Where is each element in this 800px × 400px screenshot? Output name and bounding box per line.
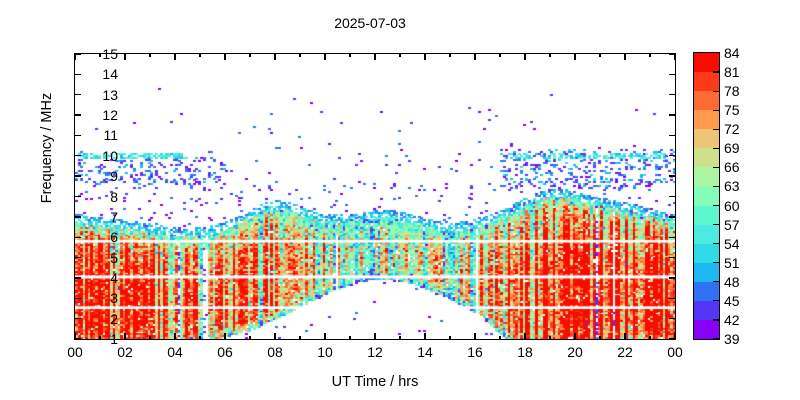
x-tick-minor-mark [599,336,600,340]
x-tick-label: 18 [500,344,550,360]
x-tick-mark [274,333,275,340]
colorbar-band [694,167,719,186]
colorbar-tick-label: 45 [724,293,740,309]
x-tick-label: 00 [650,344,700,360]
x-tick-mark-top [124,53,125,60]
x-tick-mark-top [224,53,225,60]
x-tick-mark [674,333,675,340]
x-tick-mark [424,333,425,340]
x-tick-minor-mark-top [249,53,250,57]
colorbar-tick-label: 75 [724,102,740,118]
y-tick-mark [74,237,81,238]
colorbar-band [694,53,719,72]
y-tick-label: 3 [78,290,118,306]
colorbar-tick-label: 72 [724,121,740,137]
x-tick-minor-mark-top [599,53,600,57]
x-tick-minor-mark-top [99,53,100,57]
y-tick-mark [74,155,81,156]
plot-area[interactable] [74,53,676,340]
colorbar-tick-mark [713,262,720,263]
colorbar-tick-label: 66 [724,159,740,175]
colorbar-tick-label: 81 [724,64,740,80]
colorbar-band [694,320,719,339]
x-tick-mark [624,333,625,340]
x-tick-label: 08 [250,344,300,360]
colorbar-band [694,186,719,205]
x-tick-minor-mark [499,336,500,340]
colorbar-band [694,263,719,282]
x-tick-label: 12 [350,344,400,360]
colorbar-tick-mark [713,129,720,130]
x-tick-minor-mark-top [349,53,350,57]
x-tick-minor-mark-top [649,53,650,57]
y-tick-label: 14 [78,66,118,82]
y-tick-mark-right [669,318,676,319]
colorbar-band [694,129,719,148]
y-tick-mark [74,196,81,197]
page-title: 2025-07-03 [0,15,740,31]
y-tick-mark-right [669,155,676,156]
y-tick-mark [74,277,81,278]
colorbar-tick-mark [713,205,720,206]
y-tick-mark-right [669,277,676,278]
y-tick-mark-right [669,135,676,136]
x-tick-minor-mark [349,336,350,340]
colorbar-tick-label: 39 [724,331,740,347]
y-tick-mark-right [669,175,676,176]
y-tick-mark [74,318,81,319]
x-tick-mark-top [474,53,475,60]
colorbar-tick-label: 48 [724,274,740,290]
colorbar-tick-mark [713,338,720,339]
y-tick-mark-right [669,114,676,115]
colorbar-band [694,282,719,301]
y-tick-label: 7 [78,209,118,225]
x-tick-minor-mark [199,336,200,340]
colorbar [693,52,720,340]
colorbar-band [694,72,719,91]
colorbar-band [694,206,719,225]
x-tick-label: 00 [50,344,100,360]
x-tick-minor-mark [249,336,250,340]
x-tick-minor-mark [99,336,100,340]
colorbar-band [694,301,719,320]
colorbar-band [694,244,719,263]
x-tick-mark [124,333,125,340]
y-tick-label: 6 [78,229,118,245]
x-tick-mark [374,333,375,340]
y-tick-label: 2 [78,311,118,327]
colorbar-tick-mark [713,300,720,301]
y-tick-label: 13 [78,87,118,103]
y-tick-label: 4 [78,270,118,286]
colorbar-tick-mark [713,243,720,244]
y-tick-mark [74,216,81,217]
colorbar-tick-label: 63 [724,178,740,194]
x-tick-label: 04 [150,344,200,360]
colorbar-tick-mark [713,148,720,149]
x-tick-label: 14 [400,344,450,360]
x-tick-minor-mark-top [449,53,450,57]
y-tick-label: 8 [78,189,118,205]
x-tick-label: 06 [200,344,250,360]
y-tick-mark-right [669,298,676,299]
y-tick-label: 11 [78,127,118,143]
colorbar-tick-mark [713,281,720,282]
y-tick-label: 12 [78,107,118,123]
x-tick-minor-mark-top [399,53,400,57]
spectrogram-canvas[interactable] [75,54,675,339]
x-tick-label: 22 [600,344,650,360]
x-tick-mark [224,333,225,340]
y-tick-label: 10 [78,148,118,164]
y-tick-mark-right [669,257,676,258]
x-tick-minor-mark-top [499,53,500,57]
x-tick-mark-top [674,53,675,60]
y-tick-mark-right [669,196,676,197]
y-tick-mark [74,257,81,258]
x-tick-minor-mark [299,336,300,340]
x-tick-label: 20 [550,344,600,360]
y-tick-mark [74,175,81,176]
colorbar-tick-mark [713,186,720,187]
x-tick-label: 02 [100,344,150,360]
x-tick-mark [574,333,575,340]
colorbar-band [694,91,719,110]
y-tick-mark-right [669,237,676,238]
x-tick-label: 10 [300,344,350,360]
y-tick-mark [74,298,81,299]
x-tick-mark [474,333,475,340]
x-axis-label: UT Time / hrs [74,374,676,390]
x-tick-minor-mark [549,336,550,340]
colorbar-tick-label: 57 [724,217,740,233]
colorbar-tick-mark [713,319,720,320]
y-tick-mark [74,94,81,95]
colorbar-tick-mark [713,110,720,111]
colorbar-tick-mark [713,167,720,168]
x-tick-minor-mark-top [199,53,200,57]
colorbar-tick-label: 54 [724,236,740,252]
colorbar-tick-label: 60 [724,198,740,214]
colorbar-band [694,110,719,129]
x-tick-mark-top [624,53,625,60]
colorbar-tick-mark [713,91,720,92]
colorbar-tick-label: 78 [724,83,740,99]
y-tick-mark-right [669,74,676,75]
x-tick-mark-top [374,53,375,60]
y-tick-label: 9 [78,168,118,184]
x-tick-label: 16 [450,344,500,360]
y-tick-label: 5 [78,250,118,266]
x-tick-minor-mark [399,336,400,340]
y-axis-label: Frequency / MHz [39,38,55,258]
x-tick-mark [74,333,75,340]
y-tick-mark-right [669,216,676,217]
x-tick-mark [324,333,325,340]
y-tick-mark [74,114,81,115]
x-tick-mark-top [574,53,575,60]
y-tick-label: 15 [78,46,118,62]
x-tick-mark-top [274,53,275,60]
x-tick-minor-mark-top [549,53,550,57]
y-tick-mark [74,135,81,136]
colorbar-tick-mark [713,71,720,72]
x-tick-mark-top [424,53,425,60]
x-tick-mark-top [524,53,525,60]
x-tick-mark [524,333,525,340]
colorbar-tick-mark [713,224,720,225]
colorbar-band [694,148,719,167]
x-tick-mark [174,333,175,340]
x-tick-mark-top [74,53,75,60]
colorbar-tick-label: 84 [724,45,740,61]
x-tick-minor-mark-top [149,53,150,57]
x-tick-minor-mark-top [299,53,300,57]
colorbar-tick-label: 69 [724,140,740,156]
y-tick-mark-right [669,94,676,95]
x-tick-mark-top [324,53,325,60]
colorbar-tick-label: 42 [724,312,740,328]
y-tick-mark [74,74,81,75]
x-tick-minor-mark [649,336,650,340]
colorbar-band [694,225,719,244]
colorbar-tick-label: 51 [724,255,740,271]
x-tick-minor-mark [449,336,450,340]
spectrogram-figure: 2025-07-03 Frequency / MHz UT Time / hrs… [0,0,800,400]
x-tick-minor-mark [149,336,150,340]
x-tick-mark-top [174,53,175,60]
